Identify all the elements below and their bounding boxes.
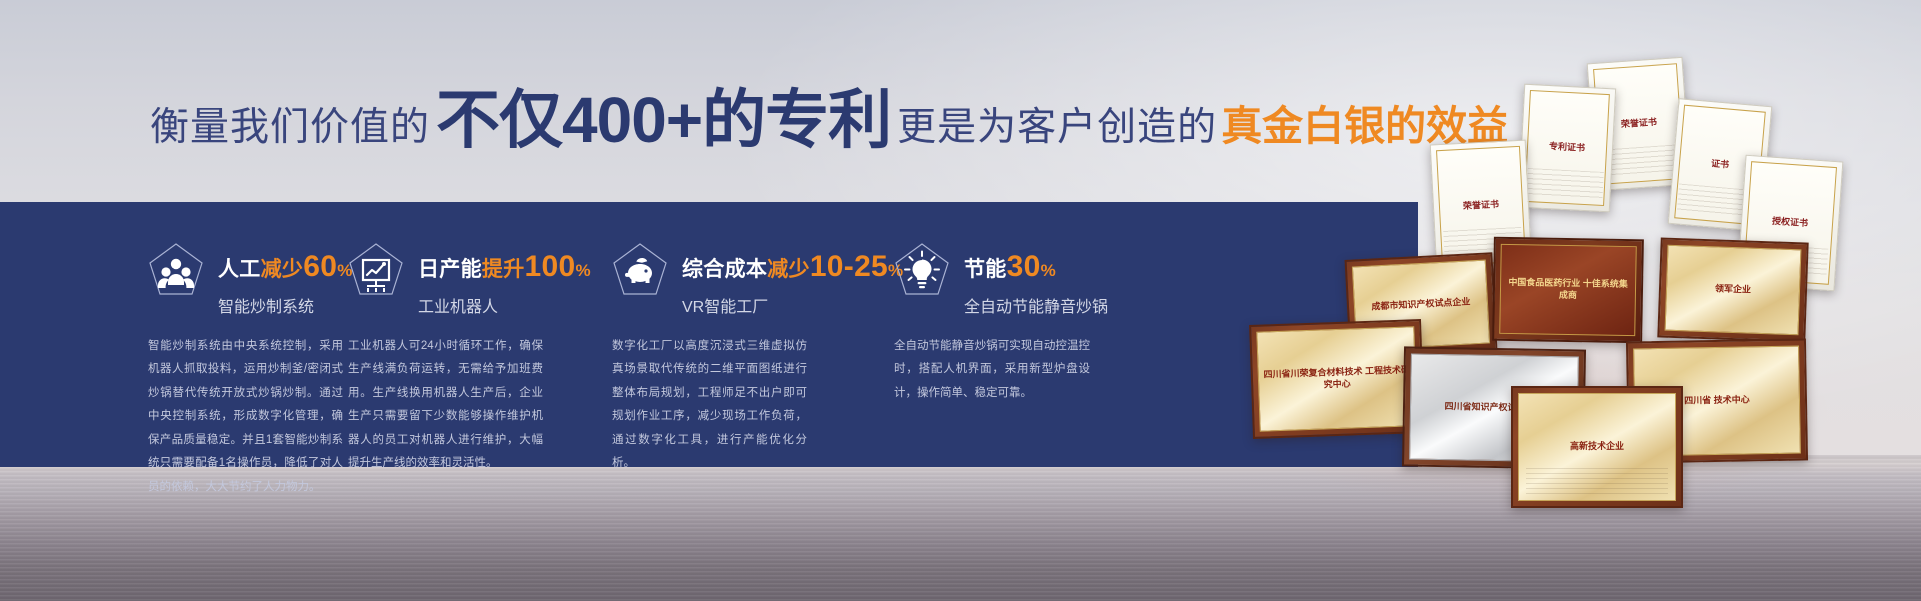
feature-title: 节能30% xyxy=(964,250,1108,285)
feature-subtitle: VR智能工厂 xyxy=(682,293,903,317)
feature-panel: 人工减少60% 智能炒制系统 智能炒制系统由中央系统控制，采用机器人抓取投料，运… xyxy=(0,202,1418,467)
feature-title-value: 30 xyxy=(1007,250,1041,283)
people-group-icon xyxy=(148,242,204,304)
feature-header: 日产能提升100% 工业机器人 xyxy=(348,246,608,317)
lightbulb-icon xyxy=(894,242,950,304)
feature-titles: 综合成本减少10-25% VR智能工厂 xyxy=(682,246,903,317)
feature-header: 综合成本减少10-25% VR智能工厂 xyxy=(612,246,872,317)
banner-stage: 衡量我们价值的 不仅400+的专利 更是为客户创造的 真金白银的效益 xyxy=(0,0,1921,601)
feature-header: 人工减少60% 智能炒制系统 xyxy=(148,246,334,317)
certificate-item: 四川省川荣复合材料技术 工程技术研究中心 xyxy=(1249,319,1425,439)
feature-subtitle: 智能炒制系统 xyxy=(218,293,353,317)
feature-item-cost: 综合成本减少10-25% VR智能工厂 数字化工厂以高度沉浸式三维虚拟仿真场景取… xyxy=(612,202,872,467)
feature-title-value: 100 xyxy=(525,250,576,283)
certificate-item: 中国食品医药行业 十佳系统集成商 xyxy=(1492,237,1644,344)
feature-titles: 人工减少60% 智能炒制系统 xyxy=(218,246,353,317)
feature-title-unit: % xyxy=(575,261,590,280)
certificate-item: 领军企业 xyxy=(1657,237,1808,342)
feature-title: 综合成本减少10-25% xyxy=(682,250,903,285)
feature-titles: 节能30% 全自动节能静音炒锅 xyxy=(964,246,1108,317)
feature-subtitle: 全自动节能静音炒锅 xyxy=(964,293,1108,317)
feature-item-energy: 节能30% 全自动节能静音炒锅 全自动节能静音炒锅可实现自动控温控时，搭配人机界… xyxy=(894,202,1194,467)
headline-middle: 更是为客户创造的 xyxy=(897,108,1217,147)
certificate-item: 高新技术企业 xyxy=(1511,386,1683,508)
feature-title-plain: 人工 xyxy=(218,258,261,281)
feature-body: 数字化工厂以高度沉浸式三维虚拟仿真场景取代传统的二维平面图纸进行整体布局规划，工… xyxy=(612,335,807,476)
certificate-texture xyxy=(1526,468,1667,494)
headline-emphasis: 不仅400+的专利 xyxy=(436,88,891,152)
piggy-bank-icon xyxy=(612,242,668,304)
certificate-item: 专利证书 xyxy=(1518,84,1616,213)
certificate-texture xyxy=(1601,144,1682,177)
feature-body: 智能炒制系统由中央系统控制，采用机器人抓取投料，运用炒制釜/密闭式炒锅替代传统开… xyxy=(148,335,343,500)
feature-body: 全自动节能静音炒锅可实现自动控温控时，搭配人机界面，采用新型炉盘设计，操作简单、… xyxy=(894,335,1090,406)
chart-board-icon xyxy=(348,242,404,304)
feature-title: 人工减少60% xyxy=(218,250,353,285)
feature-title-unit: % xyxy=(1041,261,1056,280)
certificate-label: 领军企业 xyxy=(1665,245,1802,336)
headline-lead: 衡量我们价值的 xyxy=(150,108,430,147)
feature-subtitle: 工业机器人 xyxy=(418,293,591,317)
feature-title-value: 60 xyxy=(303,250,337,283)
feature-title-value: 10-25 xyxy=(810,250,888,283)
feature-list: 人工减少60% 智能炒制系统 智能炒制系统由中央系统控制，采用机器人抓取投料，运… xyxy=(0,202,1418,467)
feature-title-plain: 综合成本 xyxy=(682,258,767,281)
certificate-label: 四川省川荣复合材料技术 工程技术研究中心 xyxy=(1256,326,1417,431)
feature-title-accent: 提升 xyxy=(482,258,525,281)
feature-body: 工业机器人可24小时循环工作，确保生产线满负荷运转，无需给予加班费用。生产线换用… xyxy=(348,335,543,476)
certificate-texture xyxy=(1527,168,1604,199)
feature-title-plain: 节能 xyxy=(964,258,1007,281)
feature-title-accent: 减少 xyxy=(767,258,810,281)
certificate-label: 中国食品医药行业 十佳系统集成商 xyxy=(1499,244,1637,336)
feature-title: 日产能提升100% xyxy=(418,250,591,285)
feature-title-plain: 日产能 xyxy=(418,258,482,281)
feature-titles: 日产能提升100% 工业机器人 xyxy=(418,246,591,317)
certificate-pile: 荣誉证书 专利证书 证书 荣誉证书 授权证书 成都市知识产权试点企业 中国食品医… xyxy=(1221,50,1921,550)
feature-header: 节能30% 全自动节能静音炒锅 xyxy=(894,246,1194,317)
feature-item-workforce: 人工减少60% 智能炒制系统 智能炒制系统由中央系统控制，采用机器人抓取投料，运… xyxy=(0,202,334,467)
feature-title-accent: 减少 xyxy=(261,258,304,281)
feature-item-capacity: 日产能提升100% 工业机器人 工业机器人可24小时循环工作，确保生产线满负荷运… xyxy=(348,202,608,467)
